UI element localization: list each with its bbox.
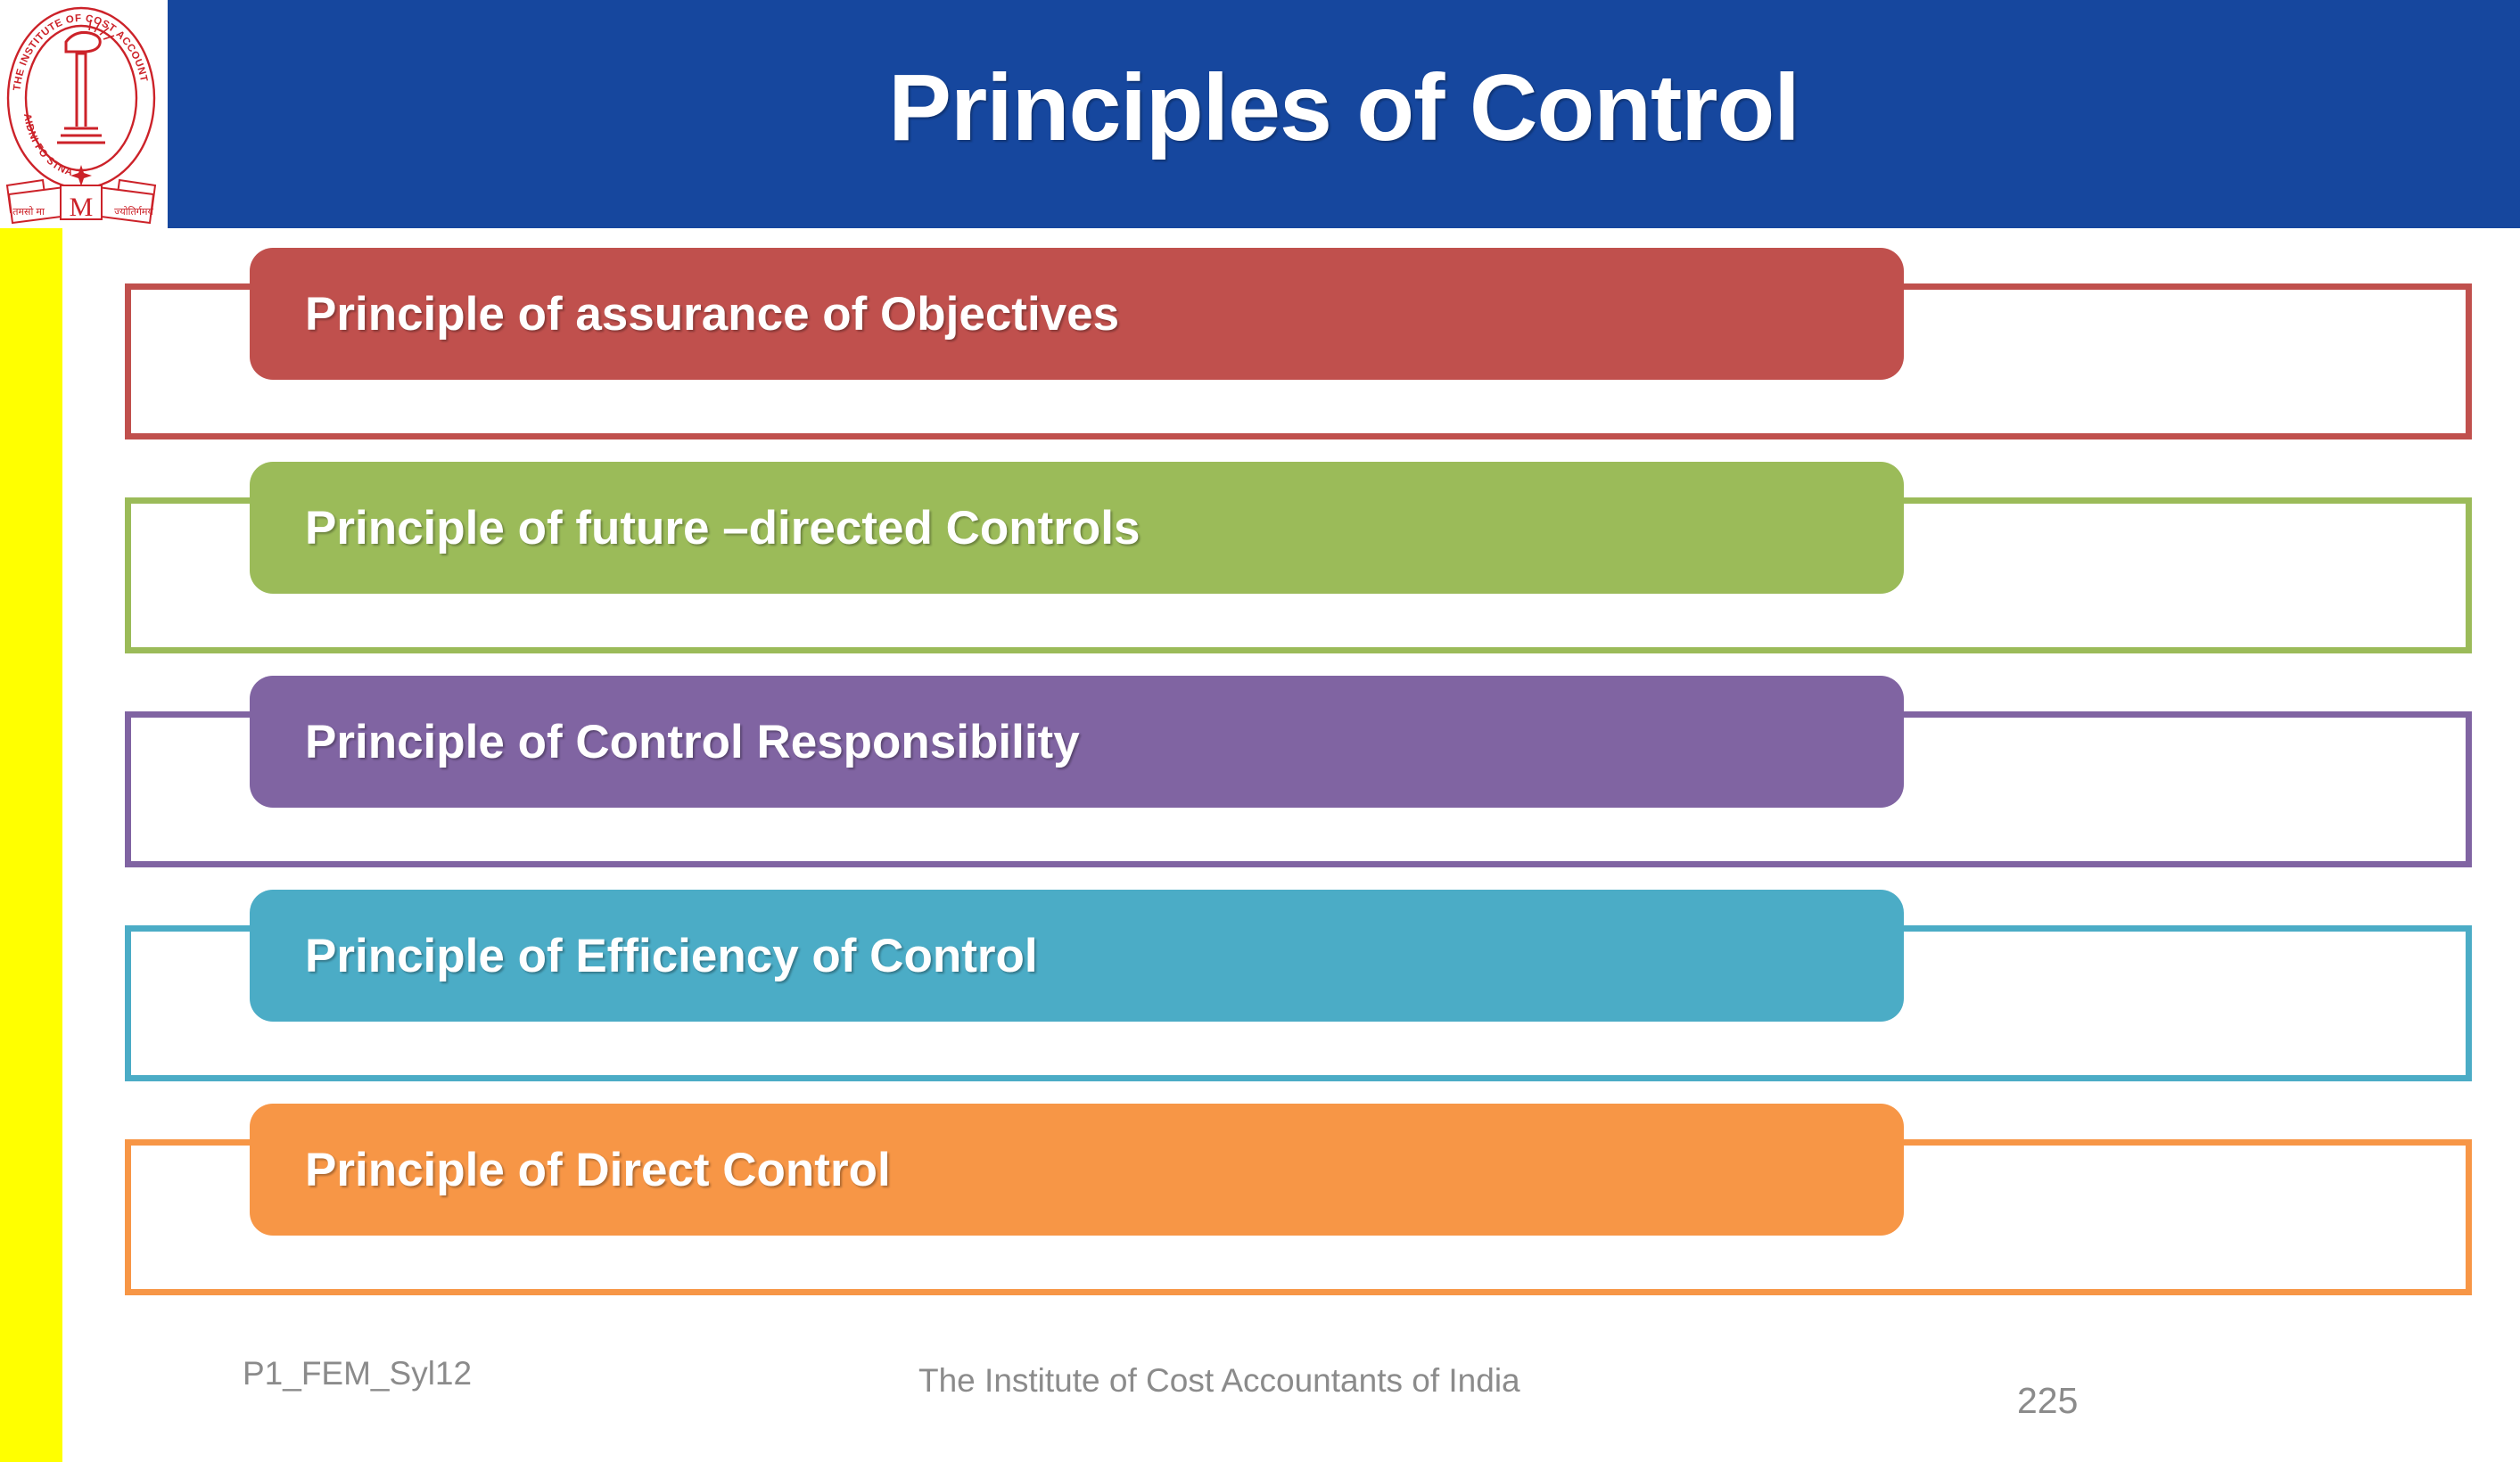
principle-label: Principle of Control Responsibility <box>305 719 1080 766</box>
principle-row: Principle of Efficiency of Control <box>125 890 2472 1081</box>
page-number: 225 <box>2017 1380 2078 1422</box>
principle-pill[interactable]: Principle of Control Responsibility <box>250 676 1904 808</box>
footer-course-code: P1_FEM_Syl12 <box>243 1355 472 1392</box>
principle-label: Principle of assurance of Objectives <box>305 291 1119 338</box>
logo-motto-left: तमसो मा <box>12 206 45 218</box>
principle-pill[interactable]: Principle of future –directed Controls <box>250 462 1904 594</box>
principle-pill[interactable]: Principle of Efficiency of Control <box>250 890 1904 1022</box>
principle-label: Principle of Efficiency of Control <box>305 932 1038 980</box>
principle-row: Principle of Control Responsibility <box>125 676 2472 867</box>
logo-motto-right: ज्योतिर्गमय <box>114 206 153 218</box>
logo-svg: तमसो मा ज्योतिर्गमय M THE INSTITUTE OF C… <box>2 2 161 230</box>
footer-organisation: The Institute of Cost Accountants of Ind… <box>918 1362 1520 1400</box>
slide-canvas: Principles of Control <box>0 0 2520 1462</box>
page-title: Principles of Control <box>168 0 2520 228</box>
principle-row: Principle of future –directed Controls <box>125 462 2472 653</box>
logo-monogram: M <box>70 193 94 222</box>
principle-label: Principle of future –directed Controls <box>305 505 1140 552</box>
principle-pill[interactable]: Principle of Direct Control <box>250 1104 1904 1236</box>
principle-row: Principle of Direct Control <box>125 1104 2472 1295</box>
yellow-accent-bar <box>0 228 62 1462</box>
principle-label: Principle of Direct Control <box>305 1146 891 1194</box>
institute-logo: तमसो मा ज्योतिर्गमय M THE INSTITUTE OF C… <box>2 2 161 230</box>
principle-pill[interactable]: Principle of assurance of Objectives <box>250 248 1904 380</box>
principle-row: Principle of assurance of Objectives <box>125 248 2472 439</box>
logo-ring-text-bottom: AIDNI FO STNA <box>21 112 74 178</box>
